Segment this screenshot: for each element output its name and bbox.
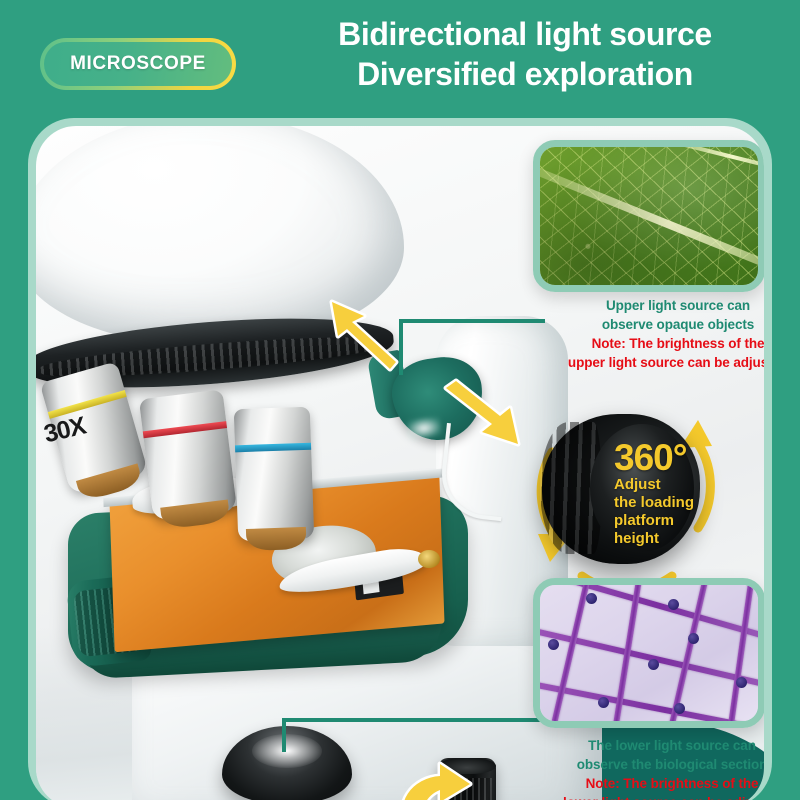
lower-caption-line-2: observe the biological section — [522, 755, 764, 774]
arrow-curved-rotate-icon — [376, 762, 486, 800]
objective-lens-red — [139, 389, 237, 520]
badge-label: MICROSCOPE — [70, 53, 206, 75]
title-line-2: Diversified exploration — [290, 54, 760, 94]
knob-degrees-label: 360° — [614, 440, 724, 476]
leaf-shading — [540, 147, 758, 285]
cell-nucleus — [688, 633, 699, 644]
cell-nucleus — [648, 659, 659, 670]
onion-cell-sample-image — [533, 578, 764, 728]
lower-note-line-1: Note: The brightness of the — [522, 774, 764, 793]
cell-nucleus — [548, 639, 559, 650]
arrow-up-left-icon — [322, 296, 412, 376]
knob-callout-text: 360° Adjust the loading platform height — [614, 440, 724, 548]
upper-note-line-1: Note: The brightness of the — [528, 334, 764, 353]
cell-nucleus — [736, 677, 747, 688]
objective-band-blue — [235, 443, 311, 453]
arrow-down-right-icon — [438, 378, 528, 454]
title-line-1: Bidirectional light source — [290, 14, 760, 54]
knob-sub-line-1: Adjust — [614, 476, 724, 494]
leader-line-lower — [282, 718, 540, 722]
cell-nucleus — [668, 599, 679, 610]
page-title: Bidirectional light source Diversified e… — [290, 14, 760, 94]
upper-light-source-caption: Upper light source can observe opaque ob… — [528, 296, 764, 372]
leaf-sample-image — [533, 140, 764, 292]
stage-clip-screw — [418, 550, 440, 568]
cell-nucleus — [598, 697, 609, 708]
objective-lens-blue — [234, 407, 315, 542]
lower-light-source-caption: The lower light source can observe the b… — [522, 736, 764, 800]
leader-line-lower-stub — [282, 718, 286, 752]
knob-sub-line-4: height — [614, 530, 724, 548]
objective-band-red — [143, 421, 227, 438]
leader-line-upper — [399, 319, 545, 375]
content-card-frame: 30X — [28, 118, 772, 800]
upper-caption-line-1: Upper light source can — [528, 296, 764, 315]
objective-band-yellow — [48, 390, 127, 419]
header-banner: MICROSCOPE Bidirectional light source Di… — [0, 0, 800, 120]
cell-nucleus — [674, 703, 685, 714]
microscope-badge: MICROSCOPE — [44, 42, 232, 86]
cell-nucleus — [586, 593, 597, 604]
lower-caption-line-1: The lower light source can — [522, 736, 764, 755]
upper-caption-line-2: observe opaque objects — [528, 315, 764, 334]
upper-note-line-2: upper light source can be adjusted — [528, 353, 764, 372]
content-card: 30X — [36, 126, 764, 800]
focus-knob-callout: 360° Adjust the loading platform height — [536, 398, 726, 588]
lower-note-line-2: lower light source can be adjusted — [522, 793, 764, 800]
knob-sub-line-3: platform — [614, 512, 724, 530]
knob-sub-line-2: the loading — [614, 494, 724, 512]
